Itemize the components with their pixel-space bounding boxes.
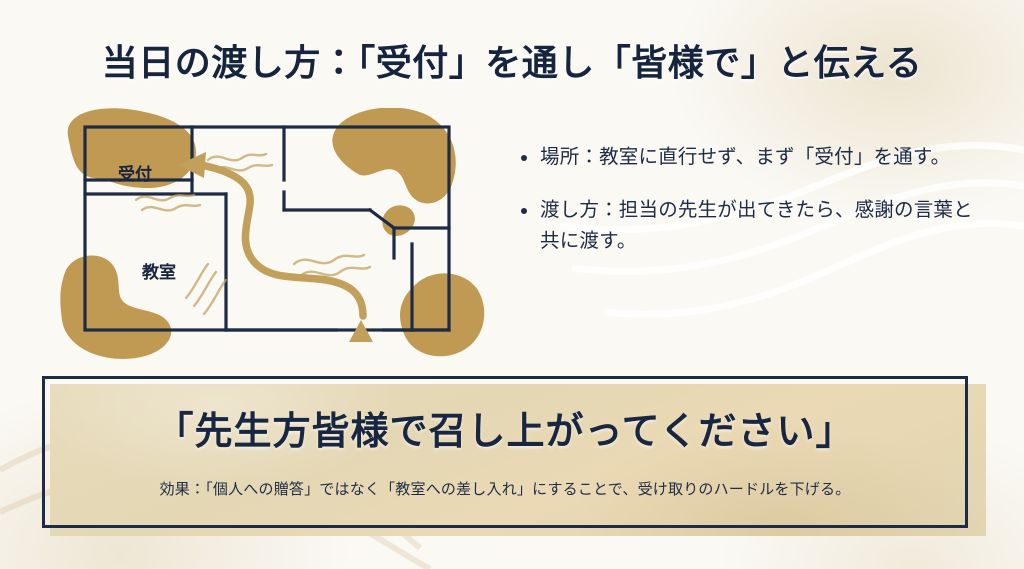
highlight-caption: 効果：「個人への贈答」ではなく「教室への差し入れ」にすることで、受け取りのハード… — [42, 478, 968, 499]
floorplan-svg — [60, 108, 500, 363]
highlight-quote: 「先生方皆様で召し上がってください」 — [42, 400, 968, 455]
bullet-text: 渡し方：担当の先生が出てきたら、感謝の言葉と共に渡す。 — [540, 195, 973, 258]
floorplan-label-classroom: 教室 — [142, 258, 176, 283]
bullet-dot-icon — [521, 208, 527, 214]
gold-blobs — [60, 108, 484, 359]
bullet-dot-icon — [521, 155, 527, 161]
bullet-text: 場所：教室に直行せず、まず「受付」を通す。 — [540, 142, 950, 174]
flow-path — [206, 166, 363, 316]
list-item: 場所：教室に直行せず、まず「受付」を通す。 — [521, 142, 973, 174]
slide-title: 当日の渡し方：「受付」を通し「皆様で」と伝える — [0, 34, 1024, 86]
bullet-list: 場所：教室に直行せず、まず「受付」を通す。 渡し方：担当の先生が出てきたら、感謝… — [521, 142, 973, 279]
floorplan-diagram: 受付 教室 — [60, 108, 500, 363]
floorplan-label-reception: 受付 — [118, 160, 152, 185]
slide-root: 当日の渡し方：「受付」を通し「皆様で」と伝える — [0, 0, 1024, 569]
list-item: 渡し方：担当の先生が出てきたら、感謝の言葉と共に渡す。 — [521, 195, 973, 258]
